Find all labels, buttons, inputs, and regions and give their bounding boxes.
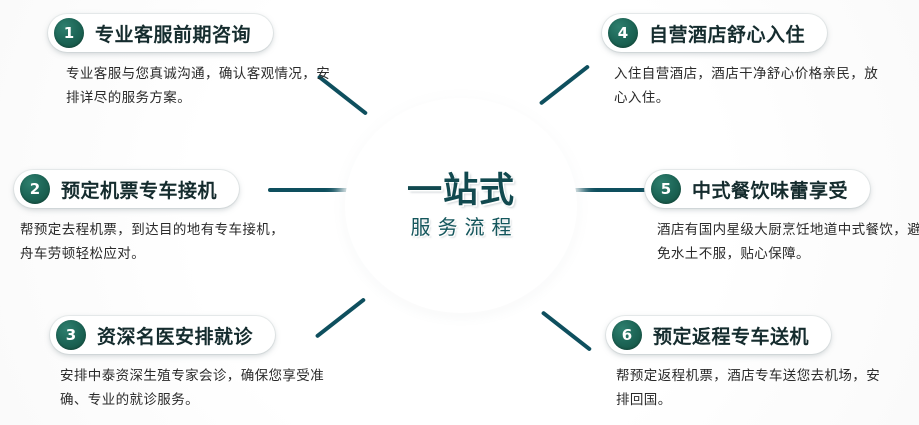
step-item-1[interactable]: 1 专业客服前期咨询 专业客服与您真诚沟通，确认客观情况，安排详尽的服务方案。 [48, 14, 348, 110]
step-item-3[interactable]: 3 资深名医安排就诊 安排中泰资深生殖专家会诊，确保您享受准确、专业的就诊服务。 [50, 316, 350, 412]
connector-line-6 [541, 310, 592, 351]
center-medallion: 一站式 服务流程 [345, 98, 577, 313]
step-number-badge-4: 4 [608, 18, 638, 48]
step-description-5: 酒店有国内星级大厨烹饪地道中式餐饮，避免水土不服，贴心保障。 [657, 219, 919, 266]
step-description-1: 专业客服与您真诚沟通，确认客观情况，安排详尽的服务方案。 [66, 63, 334, 110]
step-description-2: 帮预定去程机票，到达目的地有专车接机，舟车劳顿轻松应对。 [20, 219, 288, 266]
step-pill-3[interactable]: 3 资深名医安排就诊 [50, 316, 275, 354]
step-item-6[interactable]: 6 预定返程专车送机 帮预定返程机票，酒店专车送您去机场，安排回国。 [606, 316, 906, 412]
step-title-4: 自营酒店舒心入住 [649, 20, 805, 47]
step-pill-2[interactable]: 2 预定机票专车接机 [14, 170, 239, 208]
step-description-4: 入住自营酒店，酒店干净舒心价格亲民，放心入住。 [614, 63, 882, 110]
step-item-4[interactable]: 4 自营酒店舒心入住 入住自营酒店，酒店干净舒心价格亲民，放心入住。 [602, 14, 902, 110]
step-title-3: 资深名医安排就诊 [97, 322, 253, 349]
step-title-5: 中式餐饮味蕾享受 [692, 176, 848, 203]
step-pill-6[interactable]: 6 预定返程专车送机 [606, 316, 831, 354]
step-description-3: 安排中泰资深生殖专家会诊，确保您享受准确、专业的就诊服务。 [60, 365, 328, 412]
step-title-6: 预定返程专车送机 [653, 322, 809, 349]
step-item-2[interactable]: 2 预定机票专车接机 帮预定去程机票，到达目的地有专车接机，舟车劳顿轻松应对。 [14, 170, 314, 266]
connector-line-5 [564, 188, 652, 192]
step-number-badge-3: 3 [56, 320, 86, 350]
step-title-1: 专业客服前期咨询 [95, 20, 251, 47]
infographic-canvas: 一站式 服务流程 1 专业客服前期咨询 专业客服与您真诚沟通，确认客观情况，安排… [0, 0, 919, 425]
step-pill-5[interactable]: 5 中式餐饮味蕾享受 [645, 170, 870, 208]
step-pill-4[interactable]: 4 自营酒店舒心入住 [602, 14, 827, 52]
center-text-group: 一站式 服务流程 [345, 98, 577, 313]
step-number-badge-2: 2 [20, 174, 50, 204]
step-number-badge-6: 6 [612, 320, 642, 350]
center-subtitle: 服务流程 [404, 216, 519, 238]
step-number-badge-1: 1 [54, 18, 84, 48]
center-title: 一站式 [407, 173, 515, 210]
step-title-2: 预定机票专车接机 [61, 176, 217, 203]
step-pill-1[interactable]: 1 专业客服前期咨询 [48, 14, 273, 52]
step-number-badge-5: 5 [651, 174, 681, 204]
step-description-6: 帮预定返程机票，酒店专车送您去机场，安排回国。 [616, 365, 884, 412]
step-item-5[interactable]: 5 中式餐饮味蕾享受 酒店有国内星级大厨烹饪地道中式餐饮，避免水土不服，贴心保障… [645, 170, 919, 266]
